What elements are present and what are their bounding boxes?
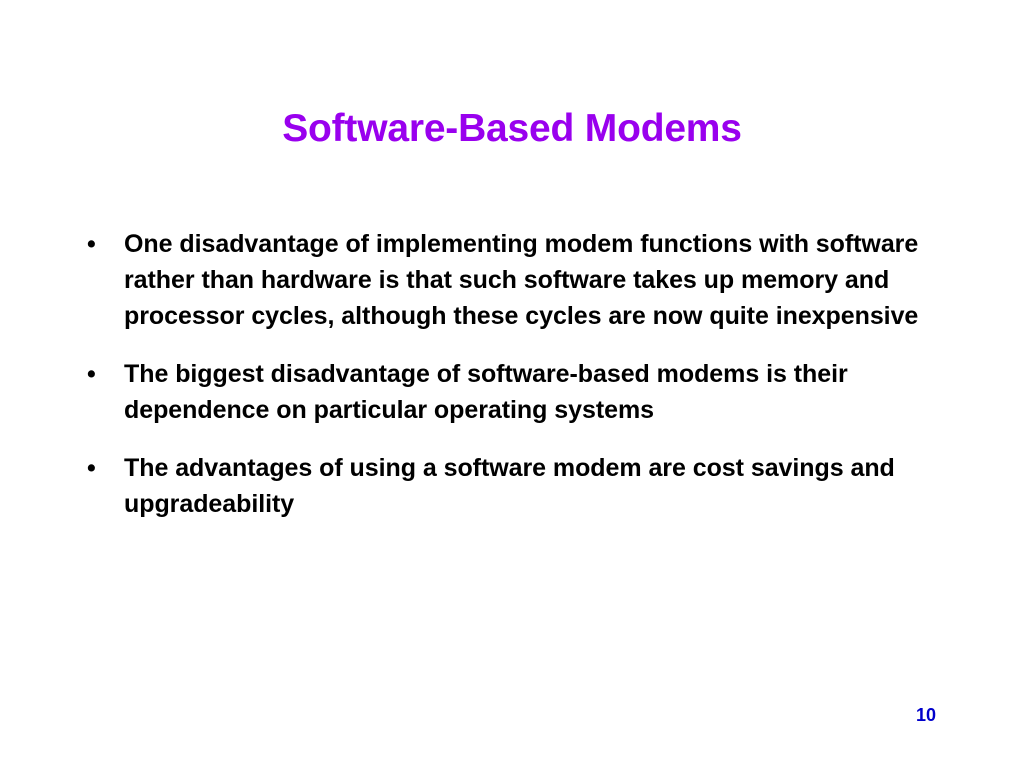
page-title: Software-Based Modems — [0, 106, 1024, 152]
slide-canvas: Software-Based Modems • One disadvantage… — [0, 0, 1024, 768]
bullet-point-icon: • — [87, 450, 103, 486]
list-item-text: One disadvantage of implementing modem f… — [124, 226, 940, 334]
page-number: 10 — [916, 704, 936, 726]
list-item: • The advantages of using a software mod… — [80, 450, 940, 522]
bullet-point-icon: • — [87, 356, 103, 392]
list-item: • The biggest disadvantage of software-b… — [80, 356, 940, 428]
bullet-point-icon: • — [87, 226, 103, 262]
list-item-text: The advantages of using a software modem… — [124, 450, 940, 522]
bullet-list: • One disadvantage of implementing modem… — [80, 226, 940, 522]
list-item: • One disadvantage of implementing modem… — [80, 226, 940, 334]
list-item-text: The biggest disadvantage of software-bas… — [124, 356, 940, 428]
